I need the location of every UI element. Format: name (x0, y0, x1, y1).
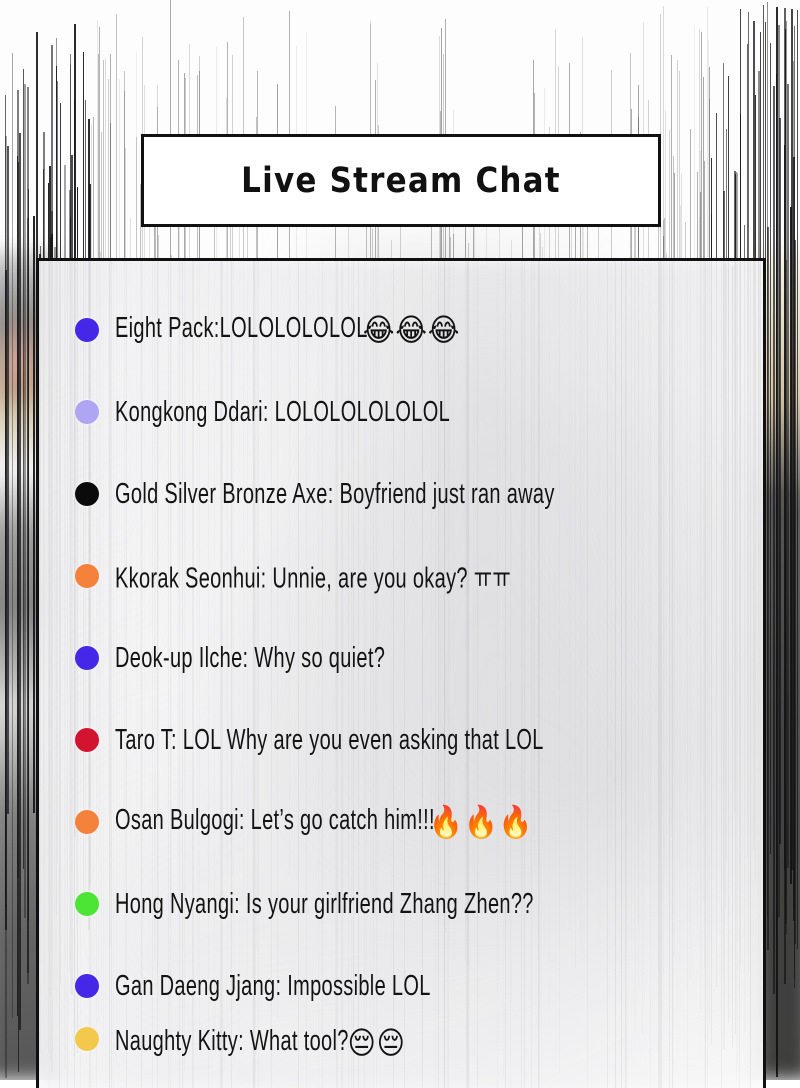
chat-message-row[interactable]: Osan Bulgogi: Let’s go catch him!!!🔥🔥🔥 (39, 781, 763, 863)
chat-message-row[interactable]: Hong Nyangi: Is your girlfriend Zhang Zh… (39, 863, 763, 945)
chat-message-row[interactable]: Eight Pack:LOLOLOLOLOL😂😂😂 (39, 289, 763, 371)
user-color-dot (75, 482, 99, 506)
pensive-face-icon: 😔😔 (348, 1027, 406, 1062)
user-color-dot (75, 318, 99, 342)
user-color-dot (75, 810, 99, 834)
user-color-dot (75, 974, 99, 998)
chat-message-text: Taro T: LOL Why are you even asking that… (115, 723, 544, 757)
user-color-dot (75, 728, 99, 752)
chat-title-box: Live Stream Chat (141, 134, 661, 227)
user-color-dot (75, 564, 99, 588)
chat-message-text: Gold Silver Bronze Axe: Boyfriend just r… (115, 477, 555, 511)
chat-message-text: Gan Daeng Jjang: Impossible LOL (115, 969, 431, 1003)
chat-message-row[interactable]: Deok-up Ilche: Why so quiet? (39, 617, 763, 699)
chat-message-row[interactable]: Kongkong Ddari: LOLOLOLOLOLOL (39, 371, 763, 453)
background-photo-blur (8, 300, 28, 420)
chat-message-text: Kongkong Ddari: LOLOLOLOLOLOL (115, 395, 450, 429)
chat-message-row[interactable]: Kkorak Seonhui: Unnie, are you okay? ㅠㅠ (39, 535, 763, 617)
chat-message-row[interactable]: Naughty Kitty: What tool?😔😔 (39, 1027, 763, 1067)
user-color-dot (75, 892, 99, 916)
face-with-tears-of-joy-icon: 😂😂😂 (363, 313, 461, 349)
chat-message-text: Osan Bulgogi: Let’s go catch him!!!🔥🔥🔥 (115, 803, 523, 840)
chat-message-row[interactable]: Taro T: LOL Why are you even asking that… (39, 699, 763, 781)
chat-message-list[interactable]: Eight Pack:LOLOLOLOLOL😂😂😂Kongkong Ddari:… (39, 261, 763, 1067)
live-chat-panel: Eight Pack:LOLOLOLOLOL😂😂😂Kongkong Ddari:… (36, 258, 766, 1088)
chat-message-text: Deok-up Ilche: Why so quiet? (115, 641, 385, 675)
chat-message-text: Kkorak Seonhui: Unnie, are you okay? ㅠㅠ (115, 555, 511, 597)
fire-icon: 🔥🔥🔥 (429, 803, 533, 840)
user-color-dot (75, 646, 99, 670)
chat-message-text: Naughty Kitty: What tool?😔😔 (115, 1027, 400, 1062)
chat-message-text: Eight Pack:LOLOLOLOLOL😂😂😂 (115, 311, 451, 348)
chat-message-row[interactable]: Gan Daeng Jjang: Impossible LOL (39, 945, 763, 1027)
user-color-dot (75, 1027, 99, 1051)
page-title: Live Stream Chat (241, 160, 561, 200)
chat-message-row[interactable]: Gold Silver Bronze Axe: Boyfriend just r… (39, 453, 763, 535)
chat-message-text: Hong Nyangi: Is your girlfriend Zhang Zh… (115, 887, 534, 921)
user-color-dot (75, 400, 99, 424)
